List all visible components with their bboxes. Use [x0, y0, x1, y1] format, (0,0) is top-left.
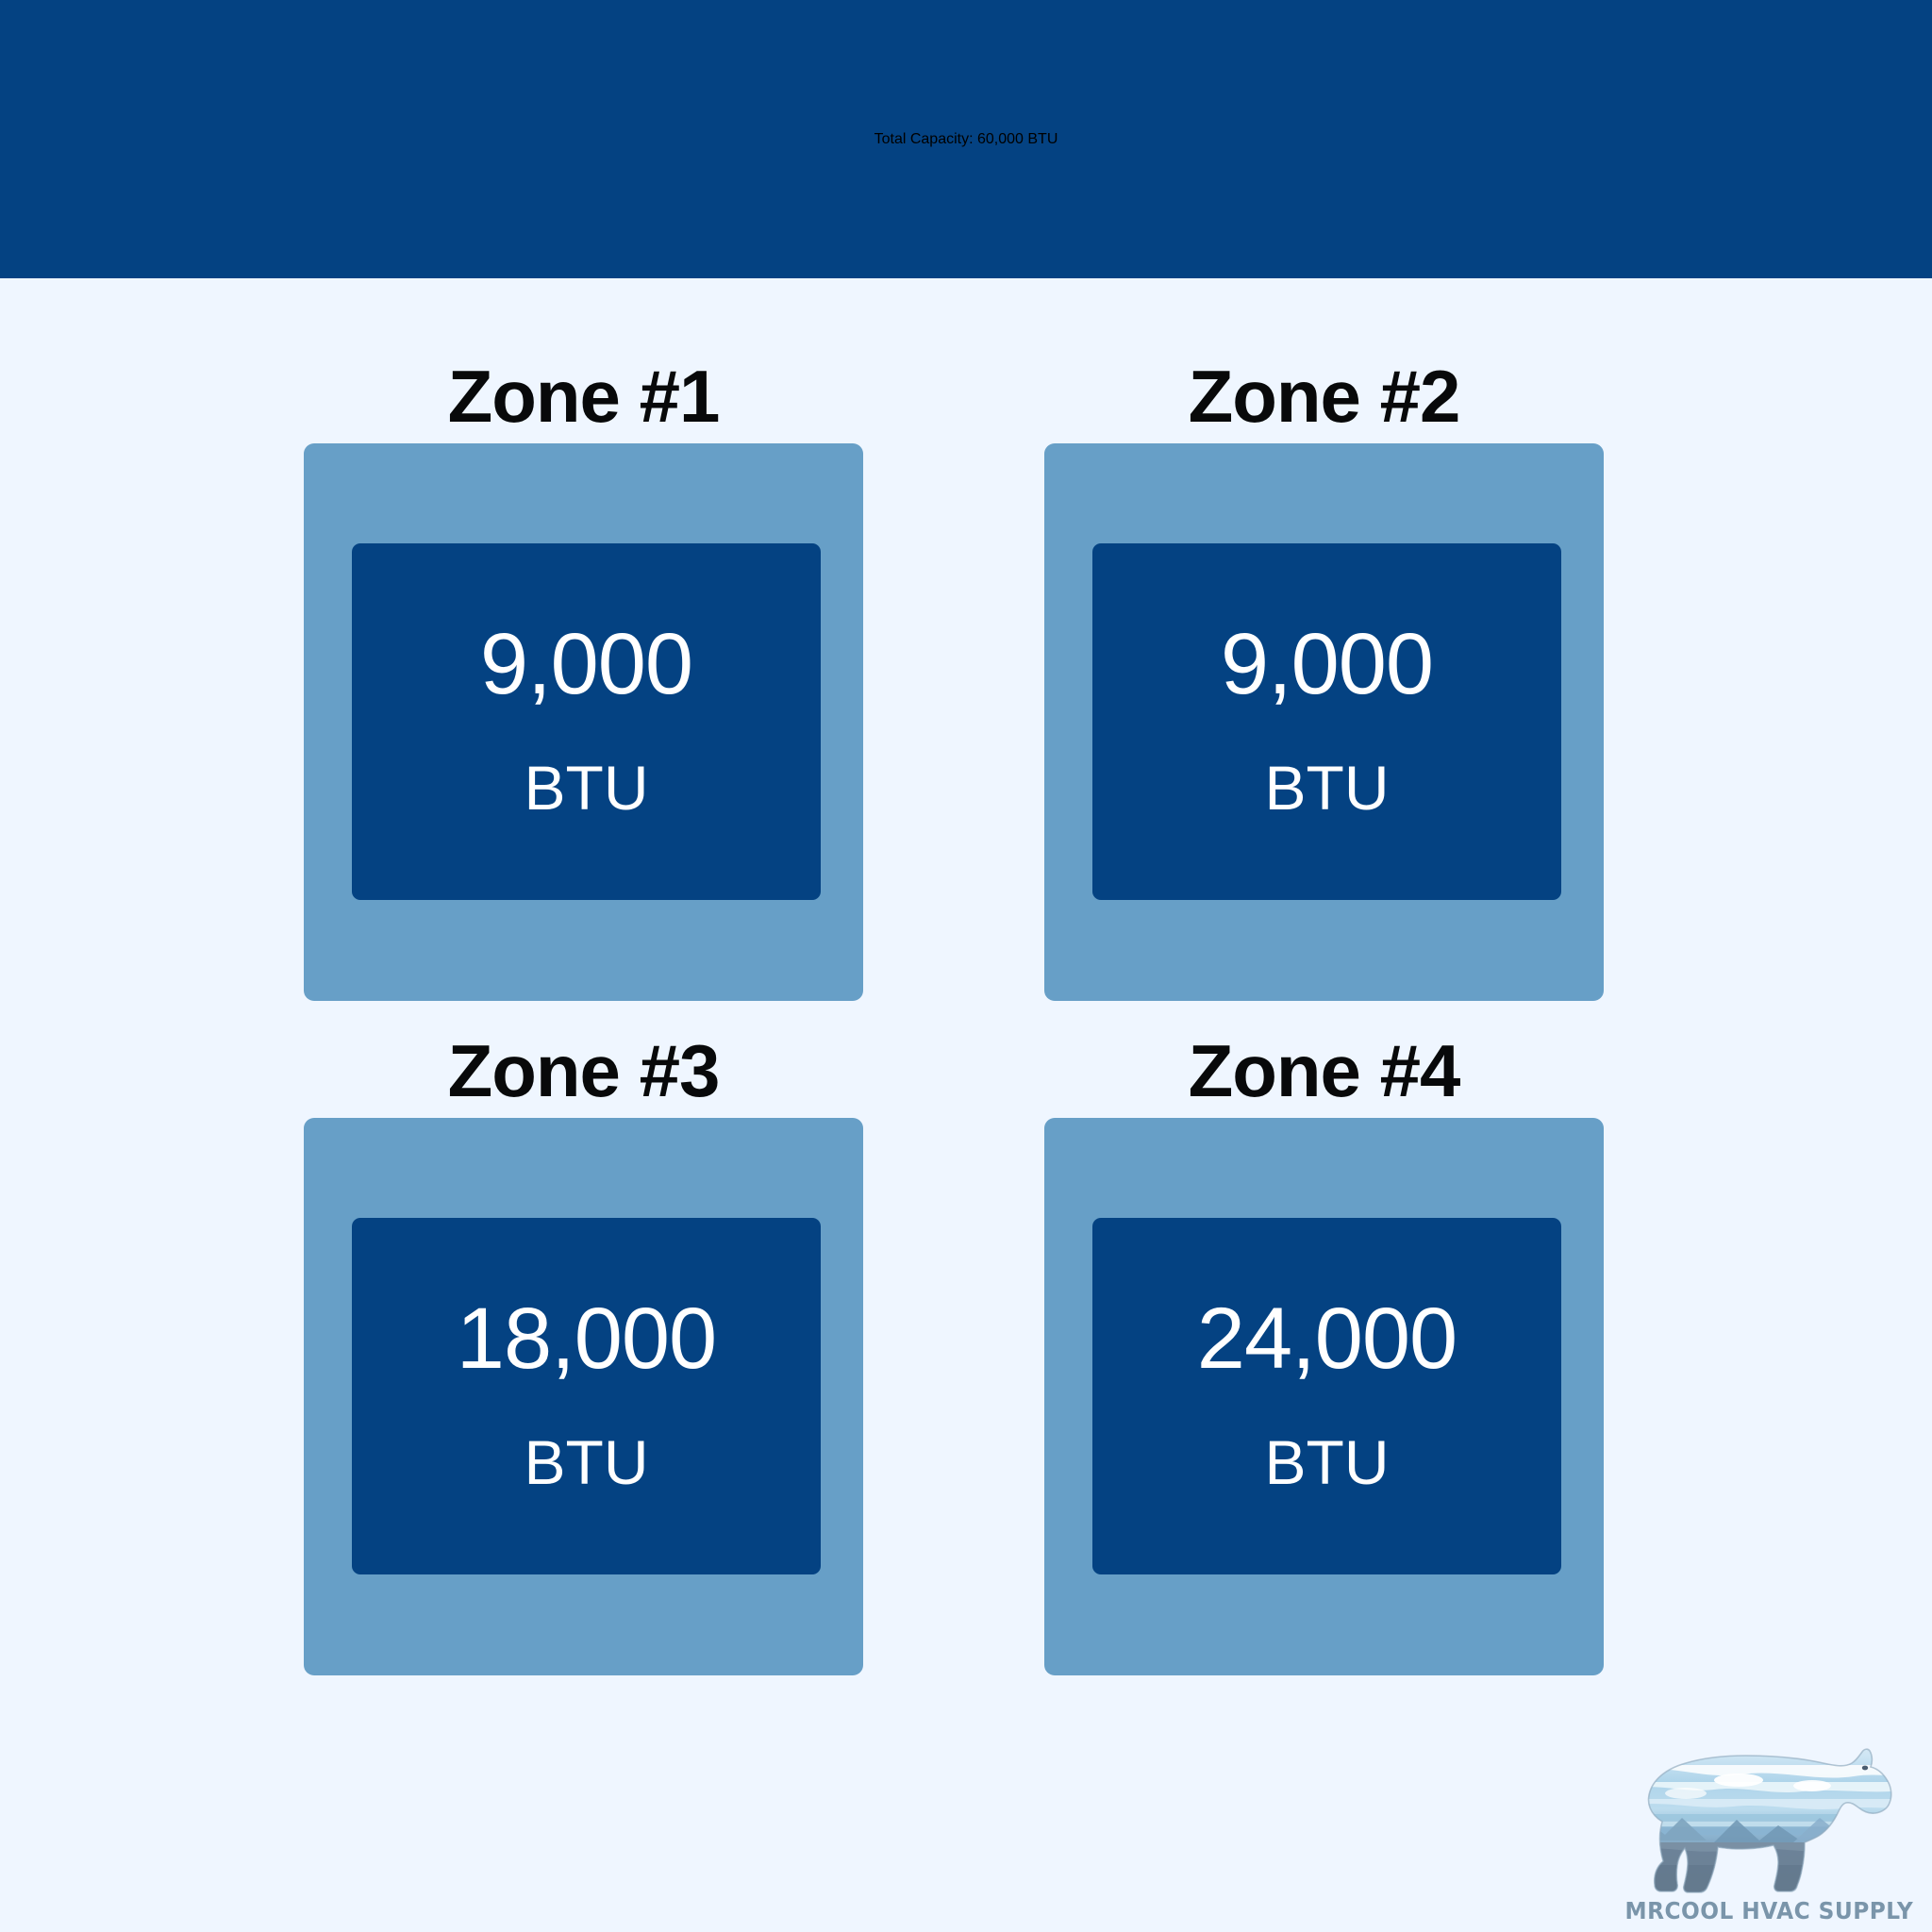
zone-row-top: Zone #1 9,000 BTU Zone #2 9,000 BTU: [304, 349, 1604, 1001]
zone-card-2[interactable]: 9,000 BTU: [1044, 443, 1604, 1001]
zone-label-1: Zone #1: [448, 349, 720, 443]
zone-capacity-box-3: 18,000 BTU: [352, 1218, 821, 1574]
brand-logo: MRCOOL HVAC SUPPLY: [1623, 1706, 1915, 1924]
brand-name: MRCOOL HVAC SUPPLY: [1624, 1897, 1913, 1924]
zone-unit-3: BTU: [525, 1431, 649, 1493]
zone-capacity-box-1: 9,000 BTU: [352, 543, 821, 900]
zone-value-3: 18,000: [457, 1295, 716, 1382]
polar-bear-icon: [1627, 1724, 1910, 1895]
zone-unit-2: BTU: [1265, 757, 1390, 819]
zone-card-4[interactable]: 24,000 BTU: [1044, 1118, 1604, 1675]
zone-value-2: 9,000: [1221, 621, 1433, 708]
page-title: Total Capacity: 60,000 BTU: [874, 131, 1058, 148]
zone-label-3: Zone #3: [448, 1024, 720, 1118]
zone-cell-4: Zone #4 24,000 BTU: [1044, 1001, 1604, 1675]
zone-card-1[interactable]: 9,000 BTU: [304, 443, 863, 1001]
zone-grid: Zone #1 9,000 BTU Zone #2 9,000 BTU Zone…: [304, 349, 1604, 1675]
zone-capacity-box-4: 24,000 BTU: [1092, 1218, 1561, 1574]
header-banner: Total Capacity: 60,000 BTU: [0, 0, 1932, 278]
zone-card-3[interactable]: 18,000 BTU: [304, 1118, 863, 1675]
zone-value-1: 9,000: [480, 621, 692, 708]
zone-value-4: 24,000: [1197, 1295, 1457, 1382]
zone-label-2: Zone #2: [1189, 349, 1460, 443]
zone-cell-3: Zone #3 18,000 BTU: [304, 1001, 863, 1675]
zone-capacity-box-2: 9,000 BTU: [1092, 543, 1561, 900]
zone-cell-1: Zone #1 9,000 BTU: [304, 349, 863, 1001]
zone-row-bottom: Zone #3 18,000 BTU Zone #4 24,000 BTU: [304, 1001, 1604, 1675]
zone-cell-2: Zone #2 9,000 BTU: [1044, 349, 1604, 1001]
zone-label-4: Zone #4: [1189, 1024, 1460, 1118]
zone-unit-4: BTU: [1265, 1431, 1390, 1493]
zone-unit-1: BTU: [525, 757, 649, 819]
